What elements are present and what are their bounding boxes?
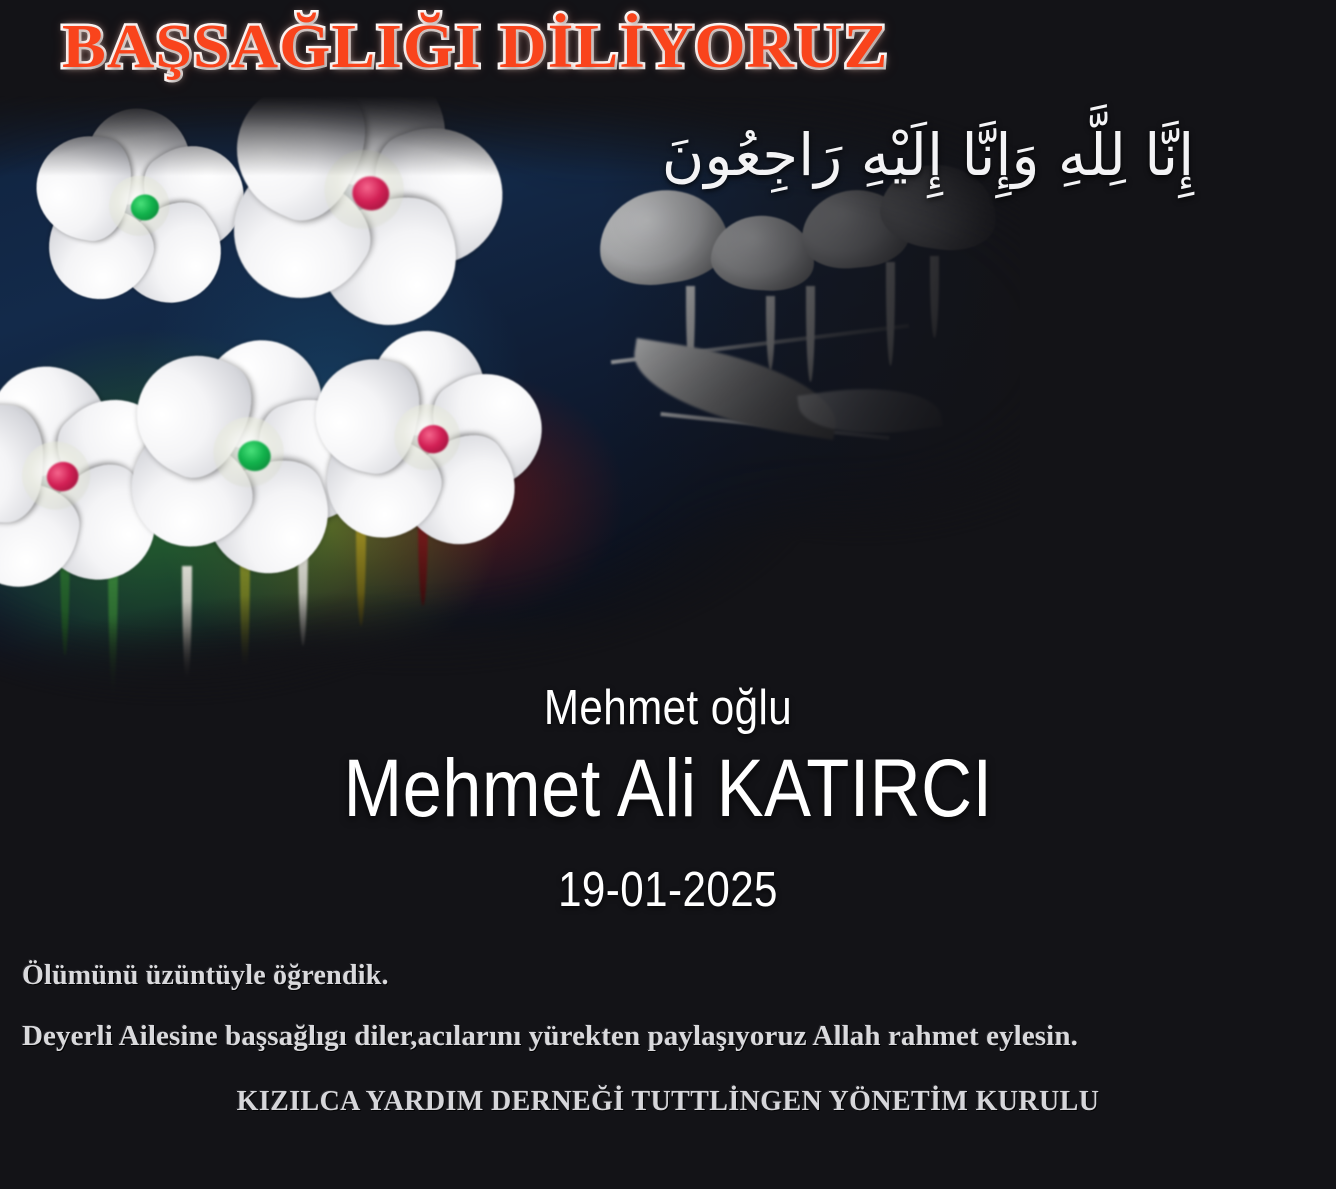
message-line-2: Deyerli Ailesine başsağlıgı diler,acılar… bbox=[22, 1020, 1318, 1053]
death-date: 19-01-2025 bbox=[94, 862, 1243, 918]
condolence-message: Ölümünü üzüntüyle öğrendik. Deyerli Aile… bbox=[18, 960, 1318, 1053]
message-line-1: Ölümünü üzüntüyle öğrendik. bbox=[22, 960, 1318, 992]
deceased-name: Mehmet Ali KATIRCI bbox=[94, 742, 1243, 836]
deceased-block: Mehmet oğlu Mehmet Ali KATIRCI 19-01-202… bbox=[0, 680, 1336, 918]
page-title: BAŞSAĞLIĞI DİLİYORUZ bbox=[62, 16, 889, 78]
organization-signature: KIZILCA YARDIM DERNEĞİ TUTTLİNGEN YÖNETİ… bbox=[0, 1086, 1336, 1118]
arabic-verse: إِنَّا لِلَّهِ وَإِنَّا إِلَيْهِ رَاجِعُ… bbox=[548, 116, 1308, 194]
deceased-parentage: Mehmet oğlu bbox=[94, 680, 1243, 736]
memorial-poster: BAŞSAĞLIĞI DİLİYORUZ إِنَّا لِلَّهِ وَإِ… bbox=[0, 0, 1336, 1189]
